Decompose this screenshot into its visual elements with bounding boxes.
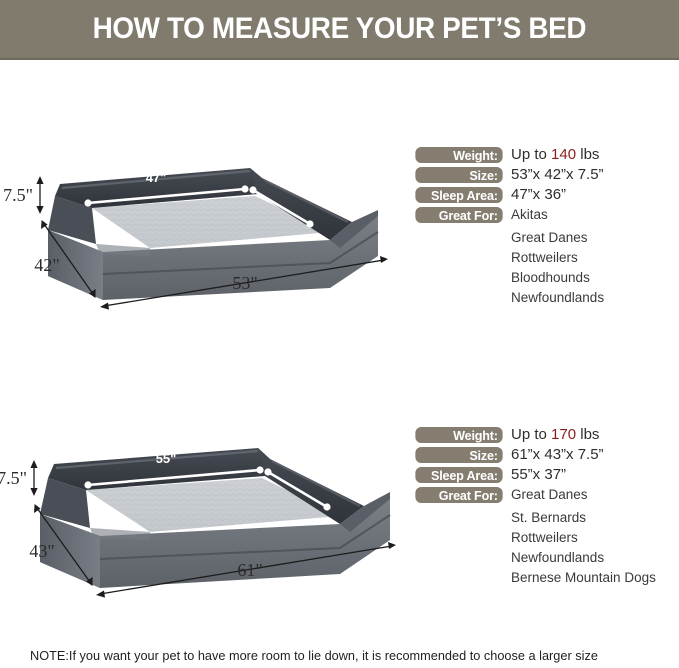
- dimension-height: 7.5": [0, 460, 38, 496]
- spec-row-sleep-area: Sleep Area: 55”x 37”: [414, 467, 656, 487]
- footer-note: NOTE:If you want your pet to have more r…: [30, 648, 598, 663]
- spec-value-size: 61”x 43”x 7.5”: [511, 447, 604, 463]
- breed-item: Bloodhounds: [511, 268, 604, 288]
- breed-item: Bernese Mountain Dogs: [511, 568, 656, 588]
- spec-value-size: 53”x 42”x 7.5”: [511, 167, 604, 183]
- weight-number: 140: [551, 146, 576, 163]
- spec-label-great-for: Great For:: [415, 207, 502, 223]
- spec-label-size: Size:: [415, 447, 502, 463]
- weight-prefix: Up to: [511, 426, 547, 443]
- spec-label-sleep-area: Sleep Area:: [415, 187, 502, 203]
- spec-value-sleep-area: 47”x 36”: [511, 187, 566, 203]
- dimension-height-label: 7.5": [0, 468, 27, 488]
- weight-prefix: Up to: [511, 146, 547, 163]
- breed-item: Great Danes: [511, 228, 604, 248]
- spec-label-weight: Weight:: [415, 427, 502, 443]
- weight-unit: lbs: [580, 146, 599, 163]
- spec-value-weight: Up to 170 lbs: [511, 427, 599, 443]
- spec-row-great-for: Great For: Akitas: [414, 207, 604, 227]
- spec-row-size: Size: 53”x 42”x 7.5”: [414, 167, 604, 187]
- spec-row-sleep-area: Sleep Area: 47”x 36”: [414, 187, 604, 207]
- spec-row-size: Size: 61”x 43”x 7.5”: [414, 447, 656, 467]
- dimension-depth-label: 43": [29, 541, 54, 561]
- spec-label-weight: Weight:: [415, 147, 502, 163]
- callout-inner-width-label: 55": [156, 451, 177, 466]
- bed-illustration-large: 47" 36" 7.5" 42" 53": [0, 148, 400, 320]
- dimension-height-label: 7.5": [3, 185, 33, 205]
- dimension-height: 7.5": [3, 176, 43, 214]
- callout-inner-depth-label: 37": [304, 460, 325, 475]
- breed-item: Rottweilers: [511, 248, 604, 268]
- callout-inner-depth-label: 36": [289, 178, 310, 193]
- spec-panel-large: Weight: Up to 140 lbs Size: 53”x 42”x 7.…: [414, 147, 604, 308]
- bed-illustration-xlarge: 55" 37" 7.5" 43" 61": [0, 428, 400, 606]
- breed-item: Newfoundlands: [511, 288, 604, 308]
- spec-label-size: Size:: [415, 167, 502, 183]
- breed-item: St. Bernards: [511, 508, 656, 528]
- breed-item: Newfoundlands: [511, 548, 656, 568]
- breed-list-large: Great Danes Rottweilers Bloodhounds Newf…: [511, 228, 604, 308]
- breed-list-xlarge: St. Bernards Rottweilers Newfoundlands B…: [511, 508, 656, 588]
- dimension-width-label: 61": [237, 560, 262, 580]
- spec-value-weight: Up to 140 lbs: [511, 147, 599, 163]
- breed-item: Great Danes: [511, 487, 588, 503]
- weight-number: 170: [551, 426, 576, 443]
- spec-row-weight: Weight: Up to 140 lbs: [414, 147, 604, 167]
- spec-row-great-for: Great For: Great Danes: [414, 487, 656, 507]
- breed-item: Akitas: [511, 207, 548, 223]
- header-divider: [0, 58, 679, 60]
- spec-row-weight: Weight: Up to 170 lbs: [414, 427, 656, 447]
- page-title: HOW TO MEASURE YOUR PET’S BED: [93, 12, 587, 46]
- spec-value-sleep-area: 55”x 37”: [511, 467, 566, 483]
- dimension-width-label: 53": [232, 273, 257, 293]
- spec-label-sleep-area: Sleep Area:: [415, 467, 502, 483]
- weight-unit: lbs: [580, 426, 599, 443]
- callout-inner-width-label: 47": [146, 170, 167, 185]
- spec-label-great-for: Great For:: [415, 487, 502, 503]
- page-header: HOW TO MEASURE YOUR PET’S BED: [0, 0, 679, 58]
- breed-item: Rottweilers: [511, 528, 656, 548]
- spec-panel-xlarge: Weight: Up to 170 lbs Size: 61”x 43”x 7.…: [414, 427, 656, 588]
- dimension-depth-label: 42": [34, 255, 59, 275]
